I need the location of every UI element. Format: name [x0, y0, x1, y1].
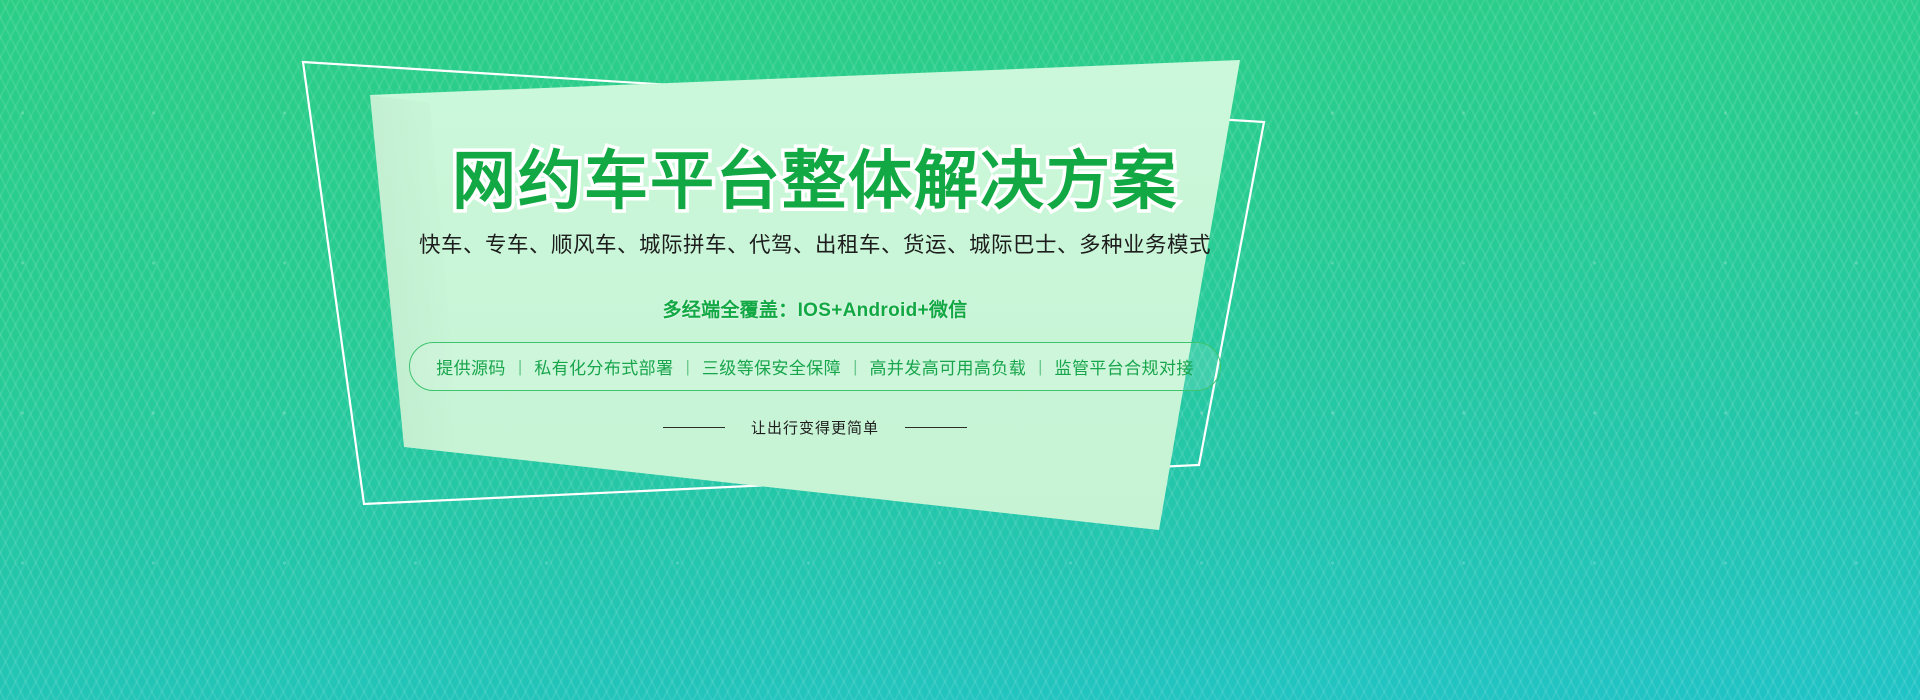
feature-separator-icon: |	[673, 357, 701, 377]
page-title: 网约车平台整体解决方案	[452, 150, 1178, 214]
feature-pill-list: 提供源码 | 私有化分布式部署 | 三级等保安全保障 | 高并发高可用高负载 |…	[409, 342, 1221, 391]
feature-item-source-code[interactable]: 提供源码	[436, 354, 506, 379]
feature-separator-icon: |	[1026, 357, 1054, 377]
banner-subtitle: 快车、专车、顺风车、城际拼车、代驾、出租车、货运、城际巴士、多种业务模式	[419, 228, 1211, 259]
feature-separator-icon: |	[506, 357, 534, 377]
tagline-rule-right-icon	[905, 427, 967, 429]
tagline-text: 让出行变得更简单	[751, 417, 879, 438]
tagline-rule-left-icon	[663, 427, 725, 429]
promo-banner: 网约车平台整体解决方案 快车、专车、顺风车、城际拼车、代驾、出租车、货运、城际巴…	[0, 0, 1920, 700]
feature-separator-icon: |	[841, 357, 869, 377]
tagline-row: 让出行变得更简单	[663, 417, 967, 438]
feature-item-high-concurrency[interactable]: 高并发高可用高负载	[870, 354, 1027, 379]
multi-terminal-coverage-text: 多经端全覆盖：IOS+Android+微信	[662, 295, 967, 322]
banner-content: 网约车平台整体解决方案 快车、专车、顺风车、城际拼车、代驾、出租车、货运、城际巴…	[400, 96, 1230, 526]
feature-item-private-deploy[interactable]: 私有化分布式部署	[534, 354, 673, 379]
feature-item-regulatory-docking[interactable]: 监管平台合规对接	[1055, 354, 1194, 379]
feature-item-security-grade[interactable]: 三级等保安全保障	[702, 354, 841, 379]
